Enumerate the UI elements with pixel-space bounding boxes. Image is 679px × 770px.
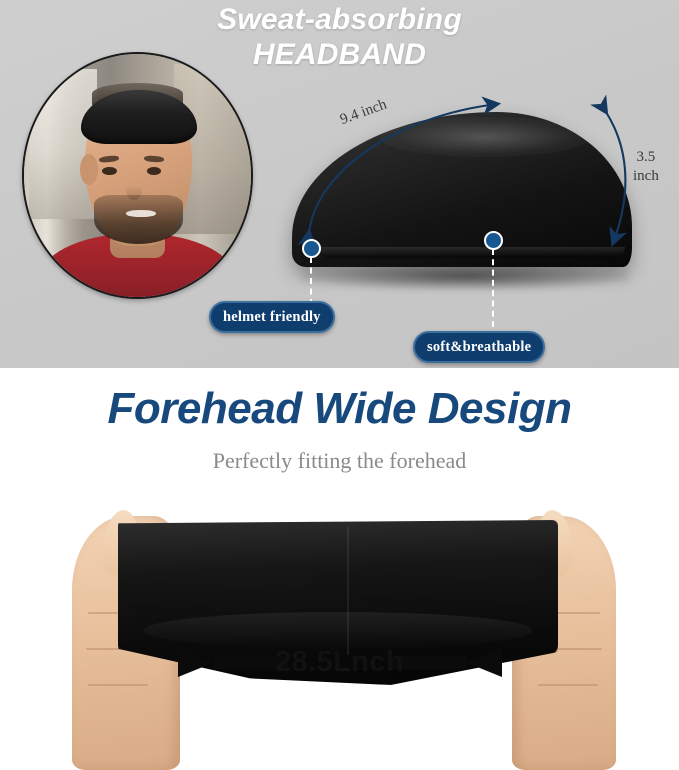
dimension-arrows (0, 0, 679, 368)
stretch-demo-photo: 28.5Lnch (0, 488, 679, 770)
top-panel: Sweat-absorbing HEADBAND (0, 0, 679, 368)
product-infographic: Sweat-absorbing HEADBAND (0, 0, 679, 770)
section-subtitle: Perfectly fitting the forehead (0, 448, 679, 474)
width-measurement (0, 488, 679, 770)
badge-soft-breathable: soft&breathable (413, 331, 545, 363)
callout-dot-soft-breathable (484, 231, 503, 250)
width-measurement-label: 28.5Lnch (0, 646, 679, 679)
callout-dot-helmet-friendly (302, 239, 321, 258)
callout-leader-helmet-friendly (310, 257, 312, 305)
height-arrow (606, 112, 625, 243)
height-dimension-label: 3.5 inch (633, 148, 659, 186)
length-arrow (309, 104, 497, 232)
section-title: Forehead Wide Design (0, 383, 679, 435)
callout-leader-soft-breathable (492, 249, 494, 327)
badge-helmet-friendly: helmet friendly (209, 301, 335, 333)
bottom-panel: Forehead Wide Design Perfectly fitting t… (0, 368, 679, 770)
